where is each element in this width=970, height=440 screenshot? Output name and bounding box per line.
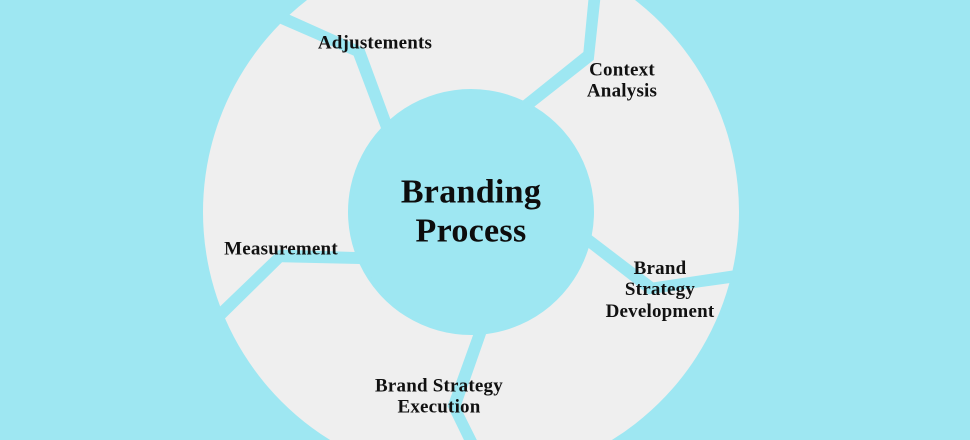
center-circle (352, 93, 590, 331)
cycle-diagram-svg (0, 0, 970, 440)
branding-process-diagram: Context Analysis Brand Strategy Developm… (0, 0, 970, 440)
